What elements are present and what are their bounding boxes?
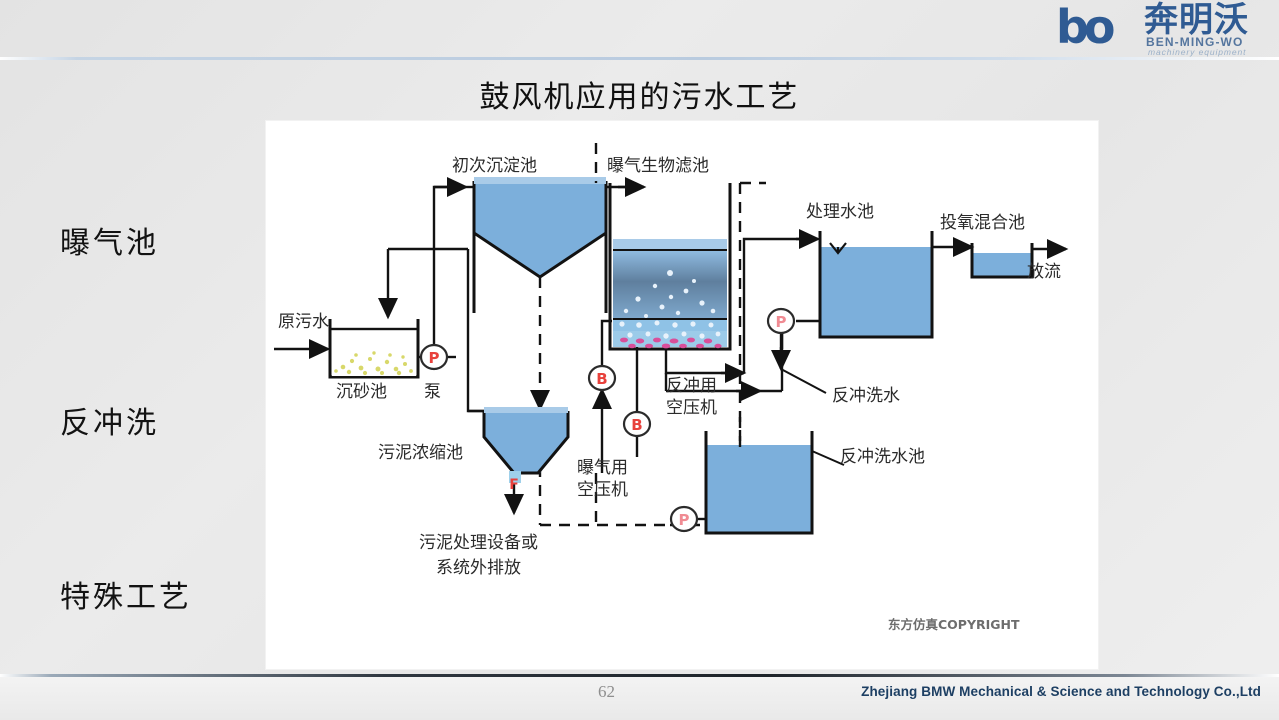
company-logo: bo 奔明沃 BEN-MING-WO machinery equipment	[1056, 2, 1271, 58]
process-flow-diagram: P B B P P F 原污水 沉砂池 泵 初次沉淀池 曝气生物滤池 处理水池 …	[266, 121, 1098, 669]
oxygen-mixing-basin	[972, 243, 1032, 277]
sidebar-item-special-process[interactable]: 特殊工艺	[60, 572, 192, 616]
treated-water-tank	[820, 231, 932, 337]
svg-text:P: P	[776, 313, 787, 331]
label-discharge: 放流	[1027, 262, 1061, 282]
svg-text:B: B	[596, 370, 607, 388]
logo-brand-cn: 奔明沃	[1144, 2, 1249, 38]
label-raw-sewage: 原污水	[278, 312, 329, 332]
label-backwash-tank: 反冲洗水池	[840, 447, 925, 467]
label-sludge-out-2: 系统外排放	[436, 558, 521, 578]
diagram-canvas: P B B P P F 原污水 沉砂池 泵 初次沉淀池 曝气生物滤池 处理水池 …	[266, 121, 1098, 669]
logo-tagline: machinery equipment	[1148, 48, 1246, 57]
sidebar-item-backwash[interactable]: 反冲洗	[60, 398, 159, 442]
svg-text:F: F	[509, 477, 519, 493]
label-primary-clarifier: 初次沉淀池	[452, 156, 537, 176]
label-backwash-blower-1: 反冲用	[666, 376, 717, 396]
svg-text:P: P	[679, 511, 690, 529]
marker-pump-p2[interactable]: P	[768, 309, 794, 333]
diagram-watermark: 东方仿真COPYRIGHT	[888, 617, 1020, 632]
label-baf: 曝气生物滤池	[607, 156, 709, 176]
label-oxygen-mix: 投氧混合池	[940, 213, 1025, 233]
label-aeration-blower-1: 曝气用	[577, 458, 628, 478]
marker-pump-p1[interactable]: P	[421, 345, 447, 369]
marker-valve-f1[interactable]: F	[509, 477, 519, 493]
label-backwash-blower-2: 空压机	[666, 398, 717, 418]
label-sludge-thickener: 污泥浓缩池	[378, 443, 463, 463]
marker-pump-p3[interactable]: P	[671, 507, 697, 531]
marker-blower-b2[interactable]: B	[624, 412, 650, 436]
primary-clarifier-vessel	[474, 177, 606, 313]
label-aeration-blower-2: 空压机	[577, 480, 628, 500]
label-grit-chamber: 沉砂池	[336, 382, 387, 402]
sludge-thickener-vessel	[484, 407, 568, 483]
label-treated-water: 处理水池	[806, 202, 874, 222]
backwash-water-tank	[706, 431, 812, 533]
svg-text:P: P	[429, 349, 440, 367]
label-pump: 泵	[424, 382, 441, 402]
svg-text:B: B	[631, 416, 642, 434]
label-sludge-out-1: 污泥处理设备或	[419, 533, 538, 553]
label-backwash-water: 反冲洗水	[832, 386, 900, 406]
page-title: 鼓风机应用的污水工艺	[0, 72, 1279, 116]
logo-mark-icon: bo	[1056, 4, 1111, 50]
footer-company-name: Zhejiang BMW Mechanical & Science and Te…	[861, 684, 1261, 699]
sidebar-item-aeration-tank[interactable]: 曝气池	[60, 218, 159, 262]
page-number: 62	[598, 682, 615, 702]
marker-blower-b1[interactable]: B	[589, 366, 615, 390]
header-bar: bo 奔明沃 BEN-MING-WO machinery equipment	[0, 0, 1279, 60]
